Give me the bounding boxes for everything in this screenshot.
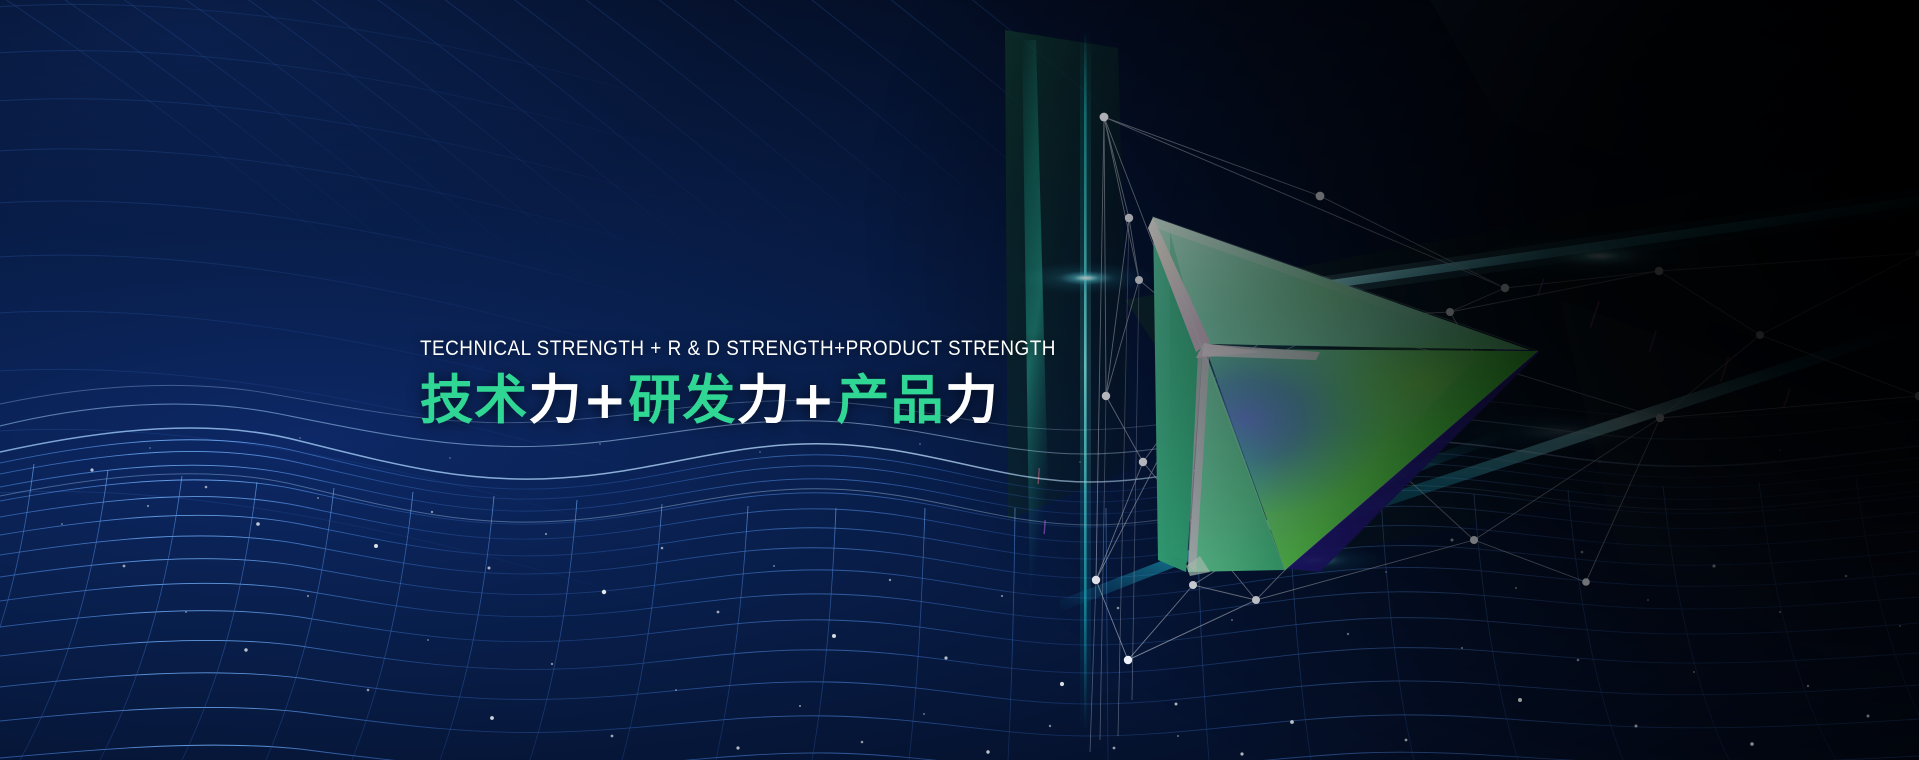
headline-plus-2: + — [791, 370, 837, 431]
hero-text-block: TECHNICAL STRENGTH + R & D STRENGTH+PROD… — [420, 338, 1180, 429]
headline-segment-2: 力 — [528, 370, 582, 431]
headline-segment-6: 力 — [945, 370, 999, 431]
headline-segment-4: 力 — [737, 370, 791, 431]
headline-segment-3: 研发 — [628, 370, 736, 431]
headline-plus-1: + — [583, 370, 629, 431]
headline-segment-1: 技术 — [420, 370, 528, 431]
hero-banner: TECHNICAL STRENGTH + R & D STRENGTH+PROD… — [0, 0, 1919, 760]
headline-segment-5: 产品 — [836, 370, 944, 431]
eyebrow-text: TECHNICAL STRENGTH + R & D STRENGTH+PROD… — [420, 338, 1089, 360]
page-title: 技术力+研发力+产品力 — [420, 373, 1180, 429]
